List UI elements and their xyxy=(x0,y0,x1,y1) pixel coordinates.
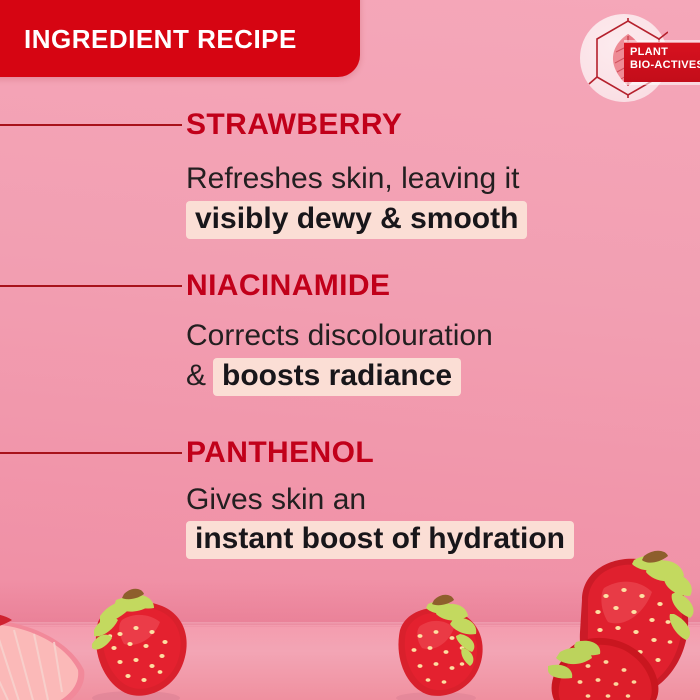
header-banner: INGREDIENT RECIPE xyxy=(0,0,360,77)
ingredient-name-niacinamide: NIACINAMIDE xyxy=(186,271,390,301)
logo-band-line-bottom xyxy=(624,82,700,85)
ingredient-desc-2-line1: Corrects discolouration xyxy=(186,320,493,351)
ingredient-name-panthenol: PANTHENOL xyxy=(186,438,374,468)
connector-rule-1 xyxy=(0,124,182,126)
logo-text: PLANT BIO-ACTIVES xyxy=(630,46,700,72)
ingredient-highlight-1: visibly dewy & smooth xyxy=(186,201,527,239)
ingredient-highlight-2: boosts radiance xyxy=(213,358,461,396)
brand-logo: PLANT BIO-ACTIVES xyxy=(566,10,700,106)
strawberry-1 xyxy=(70,586,200,700)
page-title: INGREDIENT RECIPE xyxy=(24,26,297,52)
connector-rule-3 xyxy=(0,452,182,454)
ingredient-highlight-3: instant boost of hydration xyxy=(186,521,574,559)
connector-rule-2 xyxy=(0,285,182,287)
strawberry-2 xyxy=(376,590,500,700)
ingredient-desc-2-prefix: & xyxy=(186,360,213,391)
ingredient-name-strawberry: STRAWBERRY xyxy=(186,110,402,140)
strawberry-3-large xyxy=(548,548,700,700)
logo-text-line2: BIO-ACTIVES xyxy=(630,59,700,72)
ingredient-desc-1-line1: Refreshes skin, leaving it xyxy=(186,163,520,194)
logo-text-line1: PLANT xyxy=(630,46,700,59)
ingredient-desc-3-line1: Gives skin an xyxy=(186,484,366,515)
logo-band-line-top xyxy=(624,40,700,43)
poster-canvas: INGREDIENT RECIPE PLANT BIO xyxy=(0,0,700,700)
